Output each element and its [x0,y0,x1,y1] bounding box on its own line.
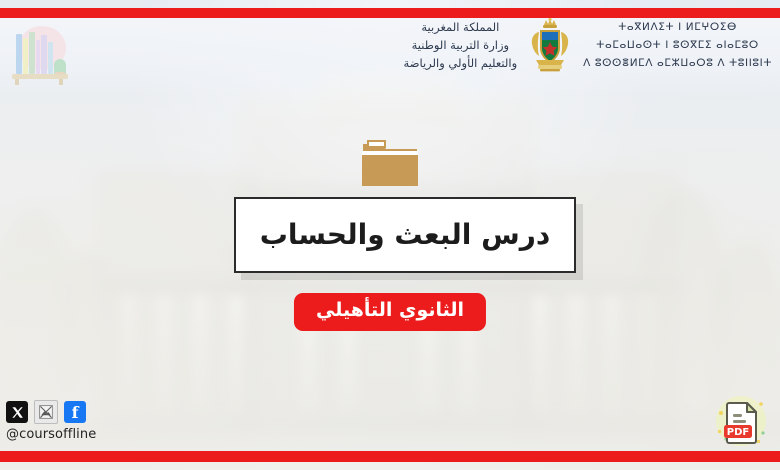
morocco-coat-of-arms [527,16,573,76]
ministry-tifinagh-line: ⵜⴰⴳⵍⴷⵉⵜ ⵏ ⵍⵎⵖⵔⵉⴱ [583,19,772,37]
broken-image-glyph [38,404,54,420]
pdf-badge-label: PDF [727,427,749,438]
folder-icon [359,138,421,190]
account-handle: @coursoffline [6,427,96,442]
broken-image-icon[interactable] [34,400,58,424]
ministry-tifinagh-line: ⵜⴰⵎⴰⵡⴰⵙⵜ ⵏ ⵓⵙⴳⵎⵉ ⴰⵏⴰⵎⵓⵔ [583,37,772,55]
status-badge: الثانوي التأهيلي [294,293,486,331]
ministry-lockup: ⵜⴰⴳⵍⴷⵉⵜ ⵏ ⵍⵎⵖⵔⵉⴱ ⵜⴰⵎⴰⵡⴰⵙⵜ ⵏ ⵓⵙⴳⵎⵉ ⴰⵏⴰⵎⵓⵔ… [404,16,772,76]
facebook-icon[interactable]: f [64,401,86,423]
x-twitter-icon[interactable] [6,401,28,423]
ministry-arabic: المملكة المغربية وزارة التربية الوطنية و… [404,19,518,72]
ministry-tifinagh-line: ⴷ ⵓⵙⵙⴻⵍⵎⴷ ⴰⵎⵣⵡⴰⵔⵓ ⴷ ⵜⵓⵏⵏⵓⵏⵜ [583,55,772,73]
page-title: درس البعث والحساب [260,220,550,251]
ministry-arabic-line: والتعليم الأولي والرياضة [404,55,518,73]
ministry-arabic-line: وزارة التربية الوطنية [404,37,518,55]
lesson-title-card: درس البعث والحساب [234,197,576,273]
banner-canvas: ⵜⴰⴳⵍⴷⵉⵜ ⵏ ⵍⵎⵖⵔⵉⴱ ⵜⴰⵎⴰⵡⴰⵙⵜ ⵏ ⵓⵙⴳⵎⵉ ⴰⵏⴰⵎⵓⵔ… [0,0,780,470]
bottom-red-rule [0,451,780,462]
ministry-arabic-line: المملكة المغربية [404,19,518,37]
ministry-tifinagh: ⵜⴰⴳⵍⴷⵉⵜ ⵏ ⵍⵎⵖⵔⵉⴱ ⵜⴰⵎⴰⵡⴰⵙⵜ ⵏ ⵓⵙⴳⵎⵉ ⴰⵏⴰⵎⵓⵔ… [583,19,772,73]
bookshelf-logo [6,22,70,88]
facebook-glyph: f [72,405,79,421]
pdf-file-icon[interactable]: PDF [712,392,770,450]
social-links: f [6,400,86,424]
x-glyph [11,406,24,419]
